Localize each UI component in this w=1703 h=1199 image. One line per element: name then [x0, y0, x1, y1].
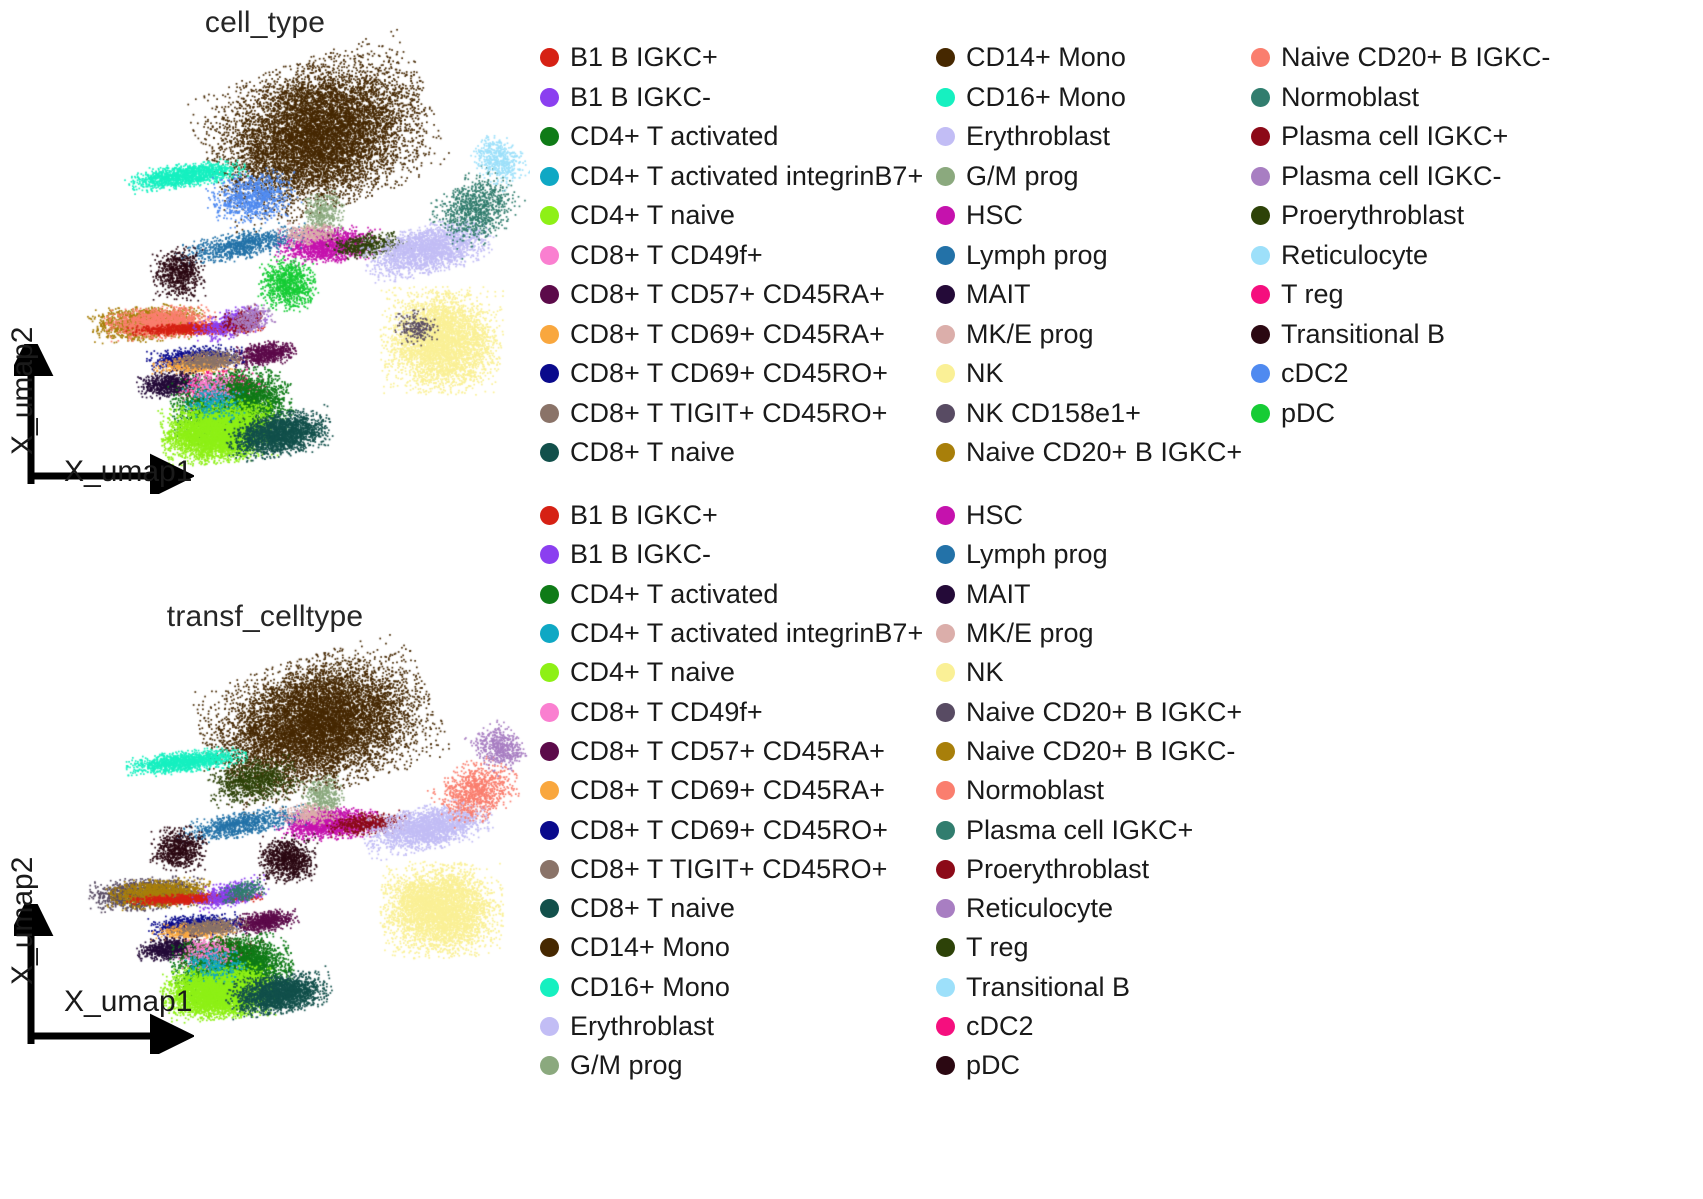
legend-item[interactable]: Plasma cell IGKC- [1251, 157, 1571, 197]
legend-swatch-icon [936, 624, 955, 643]
legend-item-label: CD8+ T CD69+ CD45RO+ [570, 817, 888, 844]
legend-item-label: CD16+ Mono [966, 84, 1126, 111]
legend-item-label: CD8+ T CD57+ CD45RA+ [570, 281, 885, 308]
legend-item-label: CD4+ T activated [570, 123, 778, 150]
legend-swatch-icon [540, 1017, 559, 1036]
legend-item-label: CD8+ T TIGIT+ CD45RO+ [570, 400, 887, 427]
legend-swatch-icon [540, 88, 559, 107]
legend-swatch-icon [936, 703, 955, 722]
legend-item-label: MAIT [966, 581, 1031, 608]
legend-item-label: B1 B IGKC+ [570, 44, 718, 71]
legend-swatch-icon [540, 781, 559, 800]
legend-item[interactable]: MK/E prog [936, 315, 1251, 355]
legend-item[interactable]: G/M prog [936, 157, 1251, 197]
legend-swatch-icon [540, 663, 559, 682]
legend-item-label: CD8+ T CD57+ CD45RA+ [570, 738, 885, 765]
legend-swatch-icon [540, 206, 559, 225]
legend-item-label: MK/E prog [966, 620, 1094, 647]
y-axis-label-2: X_umap2 [6, 857, 40, 985]
legend-column-1: B1 B IGKC+B1 B IGKC-CD4+ T activatedCD4+… [540, 496, 936, 1085]
legend-item-label: Lymph prog [966, 242, 1108, 269]
legend-swatch-icon [1251, 246, 1270, 265]
legend-item[interactable]: CD16+ Mono [540, 968, 936, 1007]
legend-item-label: Normoblast [1281, 84, 1419, 111]
umap-panel-transf-celltype: transf_celltype X_umap2 X_umap1 [0, 530, 530, 1060]
legend-swatch-icon [936, 506, 955, 525]
legend-item-label: CD8+ T CD69+ CD45RO+ [570, 360, 888, 387]
legend-item[interactable]: CD8+ T CD69+ CD45RO+ [540, 354, 936, 394]
legend-swatch-icon [540, 506, 559, 525]
legend-item-label: CD8+ T naive [570, 439, 735, 466]
legend-swatch-icon [936, 206, 955, 225]
legend-item[interactable]: B1 B IGKC- [540, 535, 936, 574]
legend-item-label: Erythroblast [966, 123, 1110, 150]
legend-swatch-icon [540, 285, 559, 304]
legend-item-label: NK CD158e1+ [966, 400, 1141, 427]
legend-item[interactable]: T reg [1251, 275, 1571, 315]
legend-swatch-icon [540, 167, 559, 186]
legend-item[interactable]: NK CD158e1+ [936, 394, 1251, 434]
legend-item[interactable]: CD4+ T activated integrinB7+ [540, 157, 936, 197]
legend-swatch-icon [936, 663, 955, 682]
legend-item[interactable]: B1 B IGKC+ [540, 496, 936, 535]
legend-item-label: NK [966, 360, 1004, 387]
legend-swatch-icon [1251, 285, 1270, 304]
legend-swatch-icon [540, 443, 559, 462]
legend-item[interactable]: CD8+ T CD49f+ [540, 692, 936, 731]
legend-swatch-icon [540, 246, 559, 265]
legend-item[interactable]: G/M prog [540, 1046, 936, 1085]
legend-swatch-icon [540, 821, 559, 840]
legend-item[interactable]: CD4+ T activated [540, 117, 936, 157]
legend-swatch-icon [1251, 206, 1270, 225]
legend-item[interactable]: B1 B IGKC+ [540, 38, 936, 78]
legend-item[interactable]: CD8+ T CD69+ CD45RA+ [540, 771, 936, 810]
legend-item-label: MAIT [966, 281, 1031, 308]
legend-swatch-icon [1251, 88, 1270, 107]
legend-swatch-icon [540, 48, 559, 67]
legend-swatch-icon [540, 1056, 559, 1075]
legend-item-label: CD8+ T CD49f+ [570, 699, 763, 726]
legend-item-label: cDC2 [1281, 360, 1349, 387]
legend-item[interactable]: CD14+ Mono [540, 928, 936, 967]
legend-swatch-icon [540, 404, 559, 423]
legend-item[interactable]: CD4+ T naive [540, 196, 936, 236]
legend-swatch-icon [540, 978, 559, 997]
legend-item-label: Naive CD20+ B IGKC- [966, 738, 1235, 765]
legend-item[interactable]: MK/E prog [936, 614, 1256, 653]
legend-item[interactable]: CD4+ T activated integrinB7+ [540, 614, 936, 653]
legend-item-label: CD14+ Mono [966, 44, 1126, 71]
legend-swatch-icon [936, 938, 955, 957]
legend-item[interactable]: HSC [936, 496, 1256, 535]
umap-panel-cell-type: cell_type X_umap2 X_umap1 [0, 0, 530, 500]
legend-column-2: HSCLymph progMAITMK/E progNKNaive CD20+ … [936, 496, 1256, 1085]
legend-item-label: Naive CD20+ B IGKC- [1281, 44, 1550, 71]
legend-item-label: G/M prog [570, 1052, 683, 1079]
legend-item[interactable]: Naive CD20+ B IGKC- [1251, 38, 1571, 78]
y-axis-label: X_umap2 [6, 327, 40, 455]
legend-item[interactable]: cDC2 [936, 1007, 1256, 1046]
legend-item[interactable]: Plasma cell IGKC+ [936, 810, 1256, 849]
legend-item-label: NK [966, 659, 1004, 686]
legend-item-label: CD8+ T TIGIT+ CD45RO+ [570, 856, 887, 883]
legend-item-label: HSC [966, 502, 1023, 529]
legend-item-label: pDC [1281, 400, 1335, 427]
legend-item-label: CD4+ T naive [570, 202, 735, 229]
legend-swatch-icon [936, 404, 955, 423]
legend-swatch-icon [936, 585, 955, 604]
legend-swatch-icon [936, 899, 955, 918]
legend-item-label: Reticulocyte [966, 895, 1113, 922]
legend-swatch-icon [936, 48, 955, 67]
legend-item-label: Proerythroblast [966, 856, 1149, 883]
legend-item[interactable]: Reticulocyte [1251, 236, 1571, 276]
legend-item[interactable]: Transitional B [1251, 315, 1571, 355]
legend-item[interactable]: CD8+ T CD57+ CD45RA+ [540, 275, 936, 315]
legend-item-label: CD14+ Mono [570, 934, 730, 961]
legend-item-label: Erythroblast [570, 1013, 714, 1040]
legend-item[interactable]: Erythroblast [540, 1007, 936, 1046]
legend-item-label: Naive CD20+ B IGKC+ [966, 699, 1242, 726]
legend-swatch-icon [936, 742, 955, 761]
legend-item-label: HSC [966, 202, 1023, 229]
legend-column-2: CD14+ MonoCD16+ MonoErythroblastG/M prog… [936, 38, 1251, 473]
legend-item-label: CD8+ T CD69+ CD45RA+ [570, 321, 885, 348]
legend-swatch-icon [540, 127, 559, 146]
legend-item-label: CD4+ T naive [570, 659, 735, 686]
legend-item-label: CD4+ T activated integrinB7+ [570, 620, 923, 647]
legend-swatch-icon [936, 364, 955, 383]
legend-item-label: Normoblast [966, 777, 1104, 804]
legend-item-label: MK/E prog [966, 321, 1094, 348]
legend-swatch-icon [936, 545, 955, 564]
legend-item[interactable]: CD8+ T TIGIT+ CD45RO+ [540, 850, 936, 889]
legend-item[interactable]: CD8+ T naive [540, 433, 936, 473]
legend-item-label: pDC [966, 1052, 1020, 1079]
legend-item[interactable]: Transitional B [936, 968, 1256, 1007]
legend-swatch-icon [540, 364, 559, 383]
legend-item-label: Transitional B [966, 974, 1130, 1001]
legend-item-label: CD8+ T CD69+ CD45RA+ [570, 777, 885, 804]
legend-item-label: Lymph prog [966, 541, 1108, 568]
legend-swatch-icon [540, 624, 559, 643]
legend-item[interactable]: CD16+ Mono [936, 78, 1251, 118]
legend-item[interactable]: CD8+ T CD57+ CD45RA+ [540, 732, 936, 771]
legend-swatch-icon [540, 938, 559, 957]
legend-item-label: B1 B IGKC- [570, 84, 711, 111]
legend-item[interactable]: T reg [936, 928, 1256, 967]
legend-swatch-icon [936, 325, 955, 344]
legend-item-label: CD4+ T activated [570, 581, 778, 608]
legend-item-label: Transitional B [1281, 321, 1445, 348]
legend-item-label: B1 B IGKC- [570, 541, 711, 568]
legend-swatch-icon [936, 167, 955, 186]
legend-swatch-icon [540, 325, 559, 344]
legend-item-label: CD8+ T naive [570, 895, 735, 922]
legend-swatch-icon [540, 860, 559, 879]
legend-column-1: B1 B IGKC+B1 B IGKC-CD4+ T activatedCD4+… [540, 38, 936, 473]
legend-item[interactable]: Naive CD20+ B IGKC+ [936, 692, 1256, 731]
legend-item-label: T reg [966, 934, 1029, 961]
legend-item[interactable]: Erythroblast [936, 117, 1251, 157]
legend-swatch-icon [540, 585, 559, 604]
legend-swatch-icon [936, 860, 955, 879]
legend-item[interactable]: B1 B IGKC- [540, 78, 936, 118]
legend-swatch-icon [936, 821, 955, 840]
legend-item-label: T reg [1281, 281, 1344, 308]
legend-item[interactable]: CD8+ T CD49f+ [540, 236, 936, 276]
legend-item[interactable]: cDC2 [1251, 354, 1571, 394]
legend-transf-celltype: B1 B IGKC+B1 B IGKC-CD4+ T activatedCD4+… [540, 496, 1256, 1085]
legend-item[interactable]: CD8+ T naive [540, 889, 936, 928]
legend-item[interactable]: pDC [936, 1046, 1256, 1085]
legend-swatch-icon [1251, 404, 1270, 423]
legend-item[interactable]: pDC [1251, 394, 1571, 434]
legend-swatch-icon [1251, 167, 1270, 186]
legend-column-3: Naive CD20+ B IGKC-NormoblastPlasma cell… [1251, 38, 1571, 433]
legend-item-label: CD16+ Mono [570, 974, 730, 1001]
legend-item[interactable]: NK [936, 653, 1256, 692]
legend-item[interactable]: CD8+ T CD69+ CD45RO+ [540, 810, 936, 849]
legend-item[interactable]: CD14+ Mono [936, 38, 1251, 78]
legend-item[interactable]: MAIT [936, 575, 1256, 614]
legend-item-label: Plasma cell IGKC+ [1281, 123, 1508, 150]
legend-item-label: Reticulocyte [1281, 242, 1428, 269]
legend-item-label: Plasma cell IGKC- [1281, 163, 1502, 190]
x-axis-label-2: X_umap1 [64, 985, 192, 1019]
axis-arrows-bottom [14, 904, 194, 1054]
legend-swatch-icon [540, 742, 559, 761]
legend-swatch-icon [936, 1056, 955, 1075]
legend-swatch-icon [540, 703, 559, 722]
legend-item-label: B1 B IGKC+ [570, 502, 718, 529]
legend-item[interactable]: Reticulocyte [936, 889, 1256, 928]
legend-item[interactable]: Naive CD20+ B IGKC- [936, 732, 1256, 771]
legend-swatch-icon [540, 899, 559, 918]
legend-item[interactable]: CD8+ T CD69+ CD45RA+ [540, 315, 936, 355]
legend-item[interactable]: HSC [936, 196, 1251, 236]
legend-swatch-icon [1251, 48, 1270, 67]
legend-swatch-icon [936, 978, 955, 997]
legend-item[interactable]: Proerythroblast [936, 850, 1256, 889]
legend-item[interactable]: Normoblast [936, 771, 1256, 810]
legend-item[interactable]: Lymph prog [936, 236, 1251, 276]
legend-item-label: cDC2 [966, 1013, 1034, 1040]
legend-swatch-icon [540, 545, 559, 564]
legend-item[interactable]: CD4+ T activated [540, 575, 936, 614]
legend-item[interactable]: NK [936, 354, 1251, 394]
legend-item[interactable]: Plasma cell IGKC+ [1251, 117, 1571, 157]
legend-item[interactable]: CD8+ T TIGIT+ CD45RO+ [540, 394, 936, 434]
legend-swatch-icon [1251, 364, 1270, 383]
legend-item[interactable]: Naive CD20+ B IGKC+ [936, 433, 1251, 473]
legend-swatch-icon [936, 285, 955, 304]
legend-swatch-icon [936, 127, 955, 146]
legend-swatch-icon [936, 1017, 955, 1036]
legend-item-label: Naive CD20+ B IGKC+ [966, 439, 1242, 466]
legend-item[interactable]: Lymph prog [936, 535, 1256, 574]
legend-cell-type: B1 B IGKC+B1 B IGKC-CD4+ T activatedCD4+… [540, 38, 1571, 473]
x-axis-label: X_umap1 [64, 455, 192, 489]
legend-swatch-icon [936, 443, 955, 462]
legend-swatch-icon [936, 781, 955, 800]
legend-item[interactable]: MAIT [936, 275, 1251, 315]
legend-item-label: Proerythroblast [1281, 202, 1464, 229]
legend-item[interactable]: Normoblast [1251, 78, 1571, 118]
legend-item-label: Plasma cell IGKC+ [966, 817, 1193, 844]
legend-item-label: G/M prog [966, 163, 1079, 190]
legend-swatch-icon [1251, 127, 1270, 146]
legend-swatch-icon [936, 88, 955, 107]
legend-swatch-icon [936, 246, 955, 265]
legend-item[interactable]: Proerythroblast [1251, 196, 1571, 236]
legend-item-label: CD8+ T CD49f+ [570, 242, 763, 269]
legend-swatch-icon [1251, 325, 1270, 344]
legend-item-label: CD4+ T activated integrinB7+ [570, 163, 923, 190]
legend-item[interactable]: CD4+ T naive [540, 653, 936, 692]
